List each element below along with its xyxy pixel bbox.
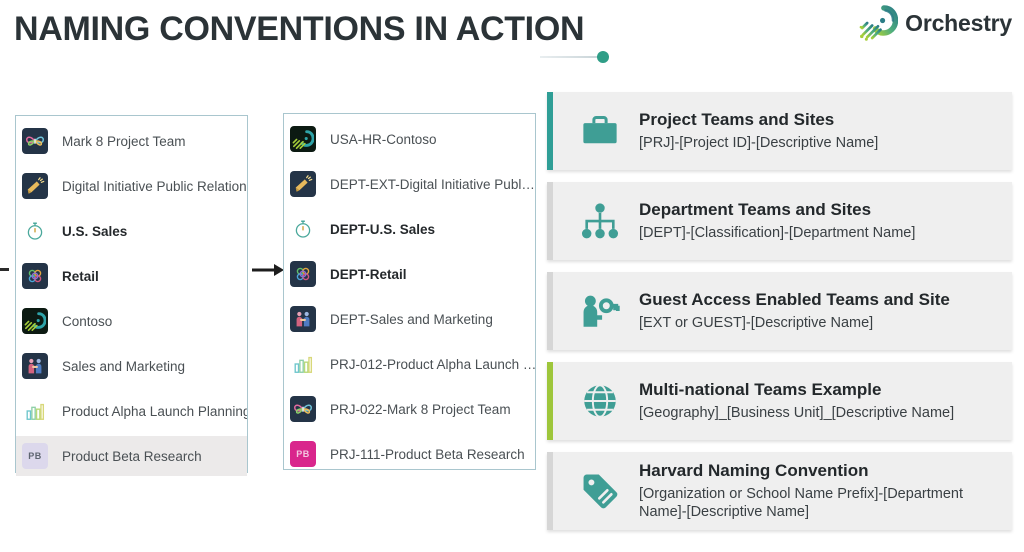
transform-arrow-icon (252, 262, 284, 278)
card-accent-bar (547, 452, 553, 530)
naming-convention-cards: Project Teams and Sites[PRJ]-[Project ID… (547, 92, 1012, 542)
title-divider-rule (540, 56, 600, 58)
list-item-label: USA-HR-Contoso (330, 132, 437, 147)
list-item[interactable]: Digital Initiative Public Relations (16, 166, 247, 206)
list-item-label: Product Alpha Launch Planning (62, 404, 247, 419)
card-title: Multi-national Teams Example (639, 380, 1002, 400)
card-text: Department Teams and Sites[DEPT]-[Classi… (639, 200, 1012, 242)
before-naming-panel: Mark 8 Project TeamDigital Initiative Pu… (15, 115, 248, 473)
card-accent-bar (547, 272, 553, 350)
list-item[interactable]: Mark 8 Project Team (16, 121, 247, 161)
after-naming-panel: USA-HR-ContosoDEPT-EXT-Digital Initiativ… (283, 113, 536, 470)
list-item[interactable]: PBProduct Beta Research (16, 436, 247, 476)
list-item-label: Sales and Marketing (62, 359, 185, 374)
knot-icon (290, 261, 316, 287)
card-pattern: [Geography]_[Business Unit]_[Descriptive… (639, 404, 1002, 422)
list-item[interactable]: Contoso (16, 301, 247, 341)
list-item[interactable]: DEPT-U.S. Sales (284, 209, 535, 249)
list-item-label: Retail (62, 269, 99, 284)
guest-key-icon (561, 290, 639, 332)
list-item[interactable]: Sales and Marketing (16, 346, 247, 386)
card-accent-bar (547, 362, 553, 440)
list-item-label: U.S. Sales (62, 224, 127, 239)
list-item-label: Contoso (62, 314, 112, 329)
two-people-icon (22, 353, 48, 379)
pb-initials-icon: PB (290, 441, 316, 467)
card-text: Guest Access Enabled Teams and Site[EXT … (639, 290, 1012, 332)
orchestry-wordmark: Orchestry (905, 10, 1012, 37)
card-pattern: [DEPT]-[Classification]-[Department Name… (639, 224, 1002, 242)
before-naming-list: Mark 8 Project TeamDigital Initiative Pu… (16, 116, 247, 472)
list-item-label: PRJ-111-Product Beta Research (330, 447, 525, 462)
card-text: Harvard Naming Convention[Organization o… (639, 461, 1012, 521)
megaphone-icon (22, 173, 48, 199)
list-item-label: PRJ-012-Product Alpha Launch … (330, 357, 535, 372)
card-pattern: [PRJ]-[Project ID]-[Descriptive Name] (639, 134, 1002, 152)
page-title: NAMING CONVENTIONS IN ACTION (14, 10, 584, 49)
after-naming-list: USA-HR-ContosoDEPT-EXT-Digital Initiativ… (284, 114, 535, 469)
megaphone-icon (290, 171, 316, 197)
orchestry-swirl-icon (858, 3, 898, 43)
stopwatch-icon (22, 218, 48, 244)
orchestry-swirl-icon (22, 308, 48, 334)
left-edge-connector (0, 268, 9, 271)
naming-convention-card[interactable]: Multi-national Teams Example[Geography]_… (547, 362, 1012, 440)
two-people-icon (290, 306, 316, 332)
bar-chart-icon (22, 398, 48, 424)
card-pattern: [EXT or GUEST]-[Descriptive Name] (639, 314, 1002, 332)
card-pattern: [Organization or School Name Prefix]-[De… (639, 485, 1002, 521)
list-item[interactable]: PRJ-022-Mark 8 Project Team (284, 389, 535, 429)
list-item-label: Mark 8 Project Team (62, 134, 186, 149)
list-item-label: DEPT-Retail (330, 267, 407, 282)
tag-icon (561, 470, 639, 512)
bar-chart-icon (290, 351, 316, 377)
list-item-label: DEPT-Sales and Marketing (330, 312, 493, 327)
orchestry-swirl-icon (290, 126, 316, 152)
card-title: Department Teams and Sites (639, 200, 1002, 220)
stopwatch-icon (290, 216, 316, 242)
orchestry-logo: Orchestry (858, 3, 1012, 43)
naming-convention-card[interactable]: Guest Access Enabled Teams and Site[EXT … (547, 272, 1012, 350)
list-item[interactable]: DEPT-EXT-Digital Initiative Publ… (284, 164, 535, 204)
list-item-label: PRJ-022-Mark 8 Project Team (330, 402, 511, 417)
card-title: Harvard Naming Convention (639, 461, 1002, 481)
list-item[interactable]: DEPT-Sales and Marketing (284, 299, 535, 339)
list-item-label: DEPT-U.S. Sales (330, 222, 435, 237)
org-chart-icon (561, 200, 639, 242)
list-item-label: Product Beta Research (62, 449, 202, 464)
butterfly-icon (290, 396, 316, 422)
card-title: Guest Access Enabled Teams and Site (639, 290, 1002, 310)
list-item[interactable]: DEPT-Retail (284, 254, 535, 294)
naming-convention-card[interactable]: Harvard Naming Convention[Organization o… (547, 452, 1012, 530)
card-accent-bar (547, 182, 553, 260)
card-accent-bar (547, 92, 553, 170)
list-item[interactable]: PBPRJ-111-Product Beta Research (284, 434, 535, 474)
naming-convention-card[interactable]: Department Teams and Sites[DEPT]-[Classi… (547, 182, 1012, 260)
briefcase-icon (561, 110, 639, 152)
list-item[interactable]: Product Alpha Launch Planning (16, 391, 247, 431)
title-accent-dot (597, 51, 609, 63)
card-text: Multi-national Teams Example[Geography]_… (639, 380, 1012, 422)
pb-initials-icon: PB (22, 443, 48, 469)
list-item[interactable]: USA-HR-Contoso (284, 119, 535, 159)
globe-icon (561, 380, 639, 422)
list-item[interactable]: Retail (16, 256, 247, 296)
list-item[interactable]: U.S. Sales (16, 211, 247, 251)
list-item-label: Digital Initiative Public Relations (62, 179, 247, 194)
butterfly-icon (22, 128, 48, 154)
list-item[interactable]: PRJ-012-Product Alpha Launch … (284, 344, 535, 384)
card-title: Project Teams and Sites (639, 110, 1002, 130)
naming-convention-card[interactable]: Project Teams and Sites[PRJ]-[Project ID… (547, 92, 1012, 170)
list-item-label: DEPT-EXT-Digital Initiative Publ… (330, 177, 535, 192)
knot-icon (22, 263, 48, 289)
card-text: Project Teams and Sites[PRJ]-[Project ID… (639, 110, 1012, 152)
